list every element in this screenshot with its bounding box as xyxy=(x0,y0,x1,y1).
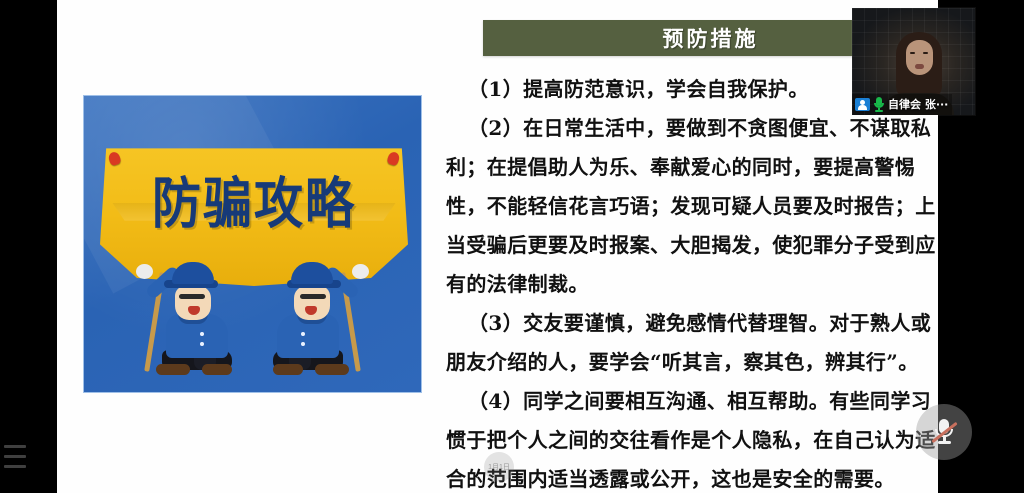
mute-toggle-button[interactable] xyxy=(916,404,972,460)
participant-mouth xyxy=(915,64,924,69)
microphone-icon xyxy=(873,97,885,112)
officer-hat xyxy=(291,262,333,284)
banner-headline: 防骗攻略 xyxy=(100,160,408,240)
officer-eyes xyxy=(179,294,205,299)
police-officer-figure-right xyxy=(249,258,357,376)
presentation-slide: 防骗攻略 xyxy=(57,0,938,493)
officer-shoe xyxy=(156,364,190,375)
officer-shoe-back xyxy=(202,364,232,375)
slide-paragraph-3: （3）交友要谨慎，避免感情代替理智。对于熟人或朋友介绍的人，要学会“听其言，察其… xyxy=(446,304,938,382)
officer-shoe xyxy=(315,364,349,375)
slide-body: （1）提高防范意识，学会自我保护。 （2）在日常生活中，要做到不贪图便宜、不谋取… xyxy=(446,70,938,493)
participant-eye-left xyxy=(910,52,915,54)
officer-eyes xyxy=(300,294,326,299)
participant-video-tile[interactable]: 自律会 张··· xyxy=(852,8,975,115)
meeting-screen-share-view: 防骗攻略 xyxy=(0,0,1024,493)
anti-fraud-illustration: 防骗攻略 xyxy=(83,95,422,393)
officer-button xyxy=(200,342,204,346)
officer-shoe-back xyxy=(273,364,303,375)
participant-eye-right xyxy=(923,52,928,54)
participant-nameplate: 自律会 张··· xyxy=(852,94,952,115)
officer-glove xyxy=(352,264,369,279)
letterbox-bar-left xyxy=(0,0,57,493)
slide-watermark: 1月1日 xyxy=(484,452,514,482)
microphone-muted-icon xyxy=(933,418,955,446)
hamburger-menu-icon[interactable] xyxy=(4,445,26,475)
police-officer-figure-left xyxy=(148,258,256,376)
officer-glove xyxy=(136,264,153,279)
officer-hat xyxy=(172,262,214,284)
participant-face xyxy=(906,40,933,75)
slide-paragraph-2: （2）在日常生活中，要做到不贪图便宜、不谋取私利；在提倡助人为乐、奉献爱心的同时… xyxy=(446,109,938,304)
officer-button xyxy=(200,332,204,336)
officer-button xyxy=(301,342,305,346)
slide-title: 预防措施 xyxy=(663,23,759,53)
officer-button xyxy=(301,332,305,336)
person-icon xyxy=(855,98,870,111)
participant-name: 自律会 张··· xyxy=(888,96,948,112)
slide-paragraph-4: （4）同学之间要相互沟通、相互帮助。有些同学习惯于把个人之间的交往看作是个人隐私… xyxy=(446,382,938,493)
